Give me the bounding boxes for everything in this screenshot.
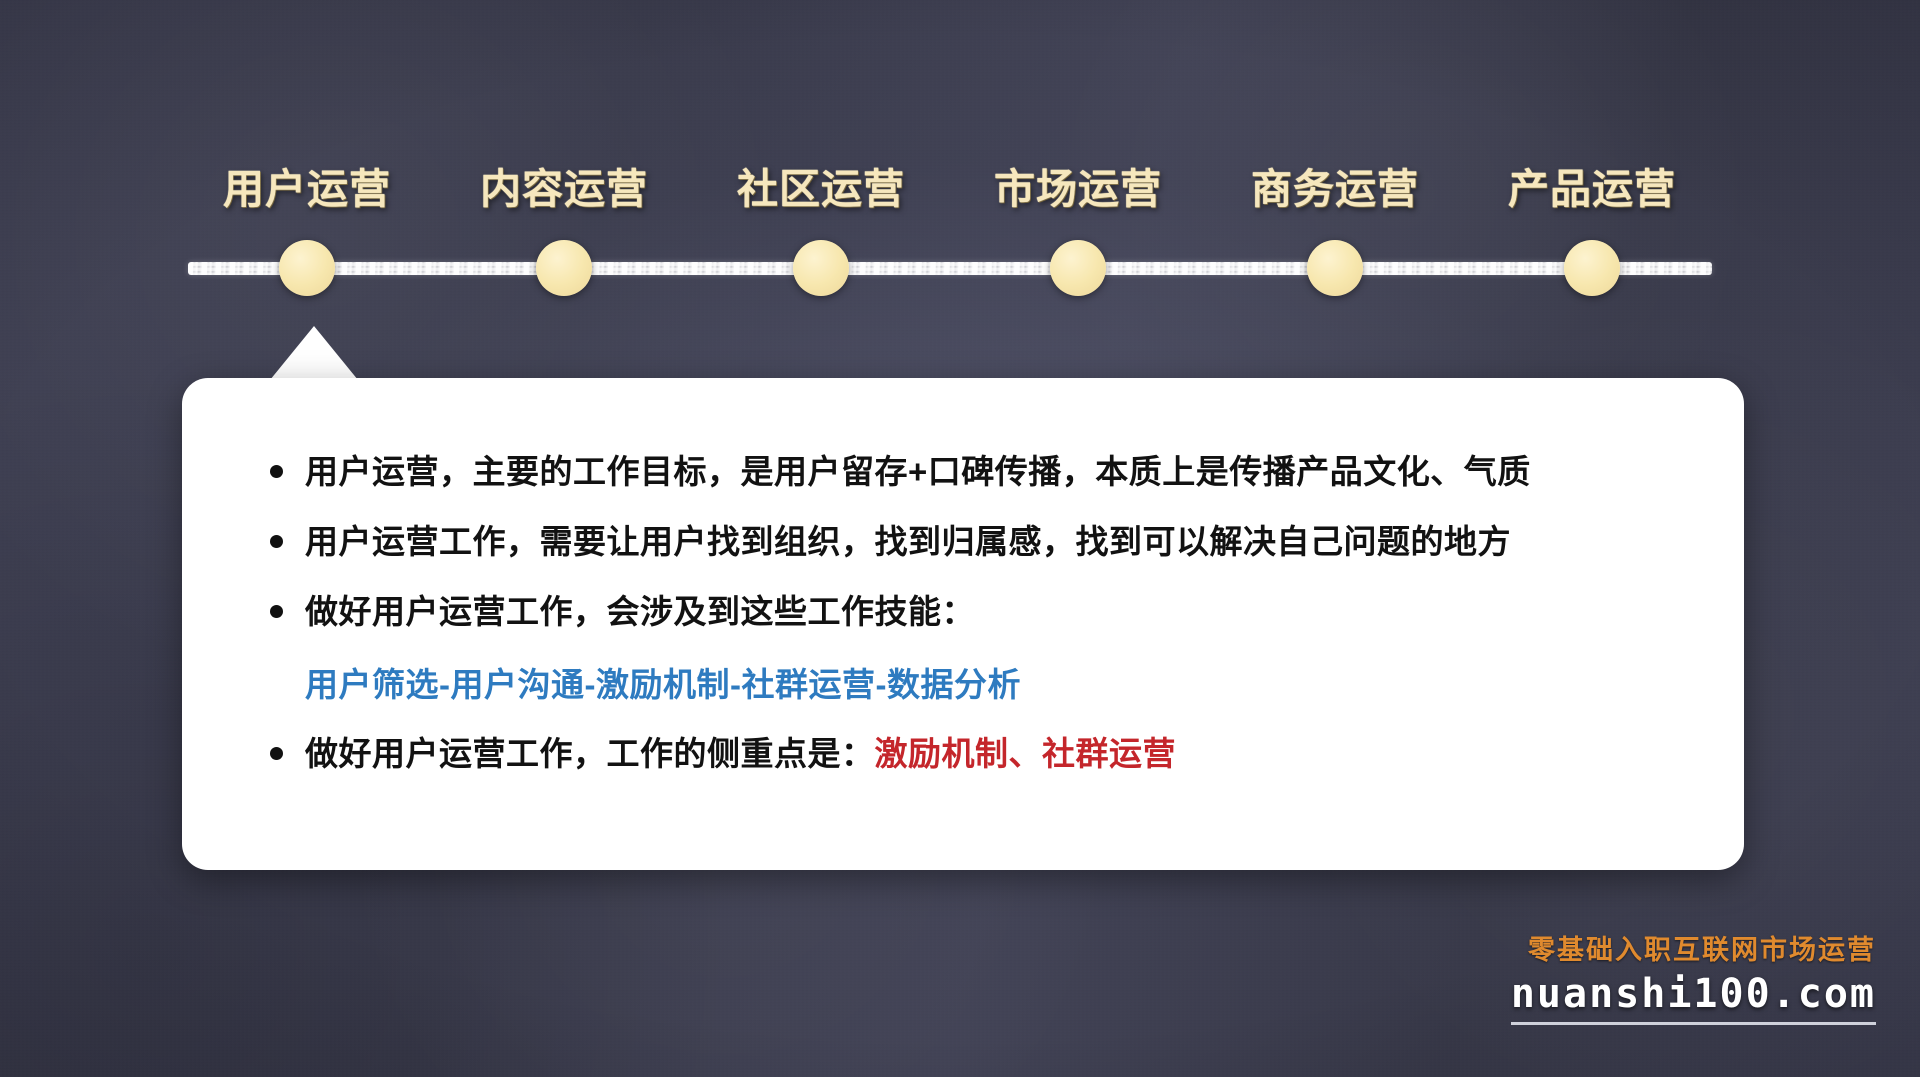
timeline-chalk-line: [188, 262, 1712, 275]
list-item: 用户运营，主要的工作目标，是用户留存+口碑传播，本质上是传播产品文化、气质: [270, 448, 1690, 496]
timeline-dot-product-ops[interactable]: [1564, 240, 1620, 296]
callout-content: 用户运营，主要的工作目标，是用户留存+口碑传播，本质上是传播产品文化、气质 用户…: [270, 448, 1690, 799]
timeline-dot-user-ops[interactable]: [279, 240, 335, 296]
bullet-focus-highlight: 激励机制、社群运营: [875, 735, 1177, 772]
timeline-dot-market-ops[interactable]: [1050, 240, 1106, 296]
timeline-label-community-ops[interactable]: 社区运营: [737, 155, 905, 215]
timeline-dot-community-ops[interactable]: [793, 240, 849, 296]
timeline-dot-business-ops[interactable]: [1307, 240, 1363, 296]
roles-timeline: 用户运营 内容运营 社区运营 市场运营 商务运营 产品运营: [0, 0, 1920, 320]
bullet-text-goal: 用户运营，主要的工作目标，是用户留存+口碑传播，本质上是传播产品文化、气质: [305, 448, 1531, 496]
bullet-dot-icon: [270, 465, 283, 478]
callout-pointer-triangle: [270, 326, 358, 380]
bullet-text-belonging: 用户运营工作，需要让用户找到组织，找到归属感，找到可以解决自己问题的地方: [305, 518, 1511, 566]
skill-chain-text: 用户筛选-用户沟通-激励机制-社群运营-数据分析: [305, 658, 1690, 706]
bullet-focus-label: 做好用户运营工作，工作的侧重点是：: [305, 735, 875, 772]
watermark: 零基础入职互联网市场运营 nuanshi100.com: [1511, 928, 1876, 1025]
bullet-dot-icon: [270, 605, 283, 618]
bullet-text-focus: 做好用户运营工作，工作的侧重点是：激励机制、社群运营: [305, 730, 1176, 778]
list-item: 做好用户运营工作，工作的侧重点是：激励机制、社群运营: [270, 730, 1690, 778]
timeline-label-user-ops[interactable]: 用户运营: [223, 155, 391, 215]
timeline-label-business-ops[interactable]: 商务运营: [1251, 155, 1419, 215]
slide-canvas: 用户运营 内容运营 社区运营 市场运营 商务运营 产品运营 用户运营，主要的工作…: [0, 0, 1920, 1077]
list-item: 做好用户运营工作，会涉及到这些工作技能：: [270, 588, 1690, 636]
bullet-dot-icon: [270, 747, 283, 760]
watermark-url: nuanshi100.com: [1511, 971, 1876, 1025]
list-item: 用户运营工作，需要让用户找到组织，找到归属感，找到可以解决自己问题的地方: [270, 518, 1690, 566]
bullet-text-skills-intro: 做好用户运营工作，会涉及到这些工作技能：: [305, 588, 975, 636]
timeline-dot-content-ops[interactable]: [536, 240, 592, 296]
watermark-course-title: 零基础入职互联网市场运营: [1511, 928, 1876, 967]
timeline-label-market-ops[interactable]: 市场运营: [994, 155, 1162, 215]
bullet-dot-icon: [270, 535, 283, 548]
timeline-label-product-ops[interactable]: 产品运营: [1508, 155, 1676, 215]
timeline-label-content-ops[interactable]: 内容运营: [480, 155, 648, 215]
